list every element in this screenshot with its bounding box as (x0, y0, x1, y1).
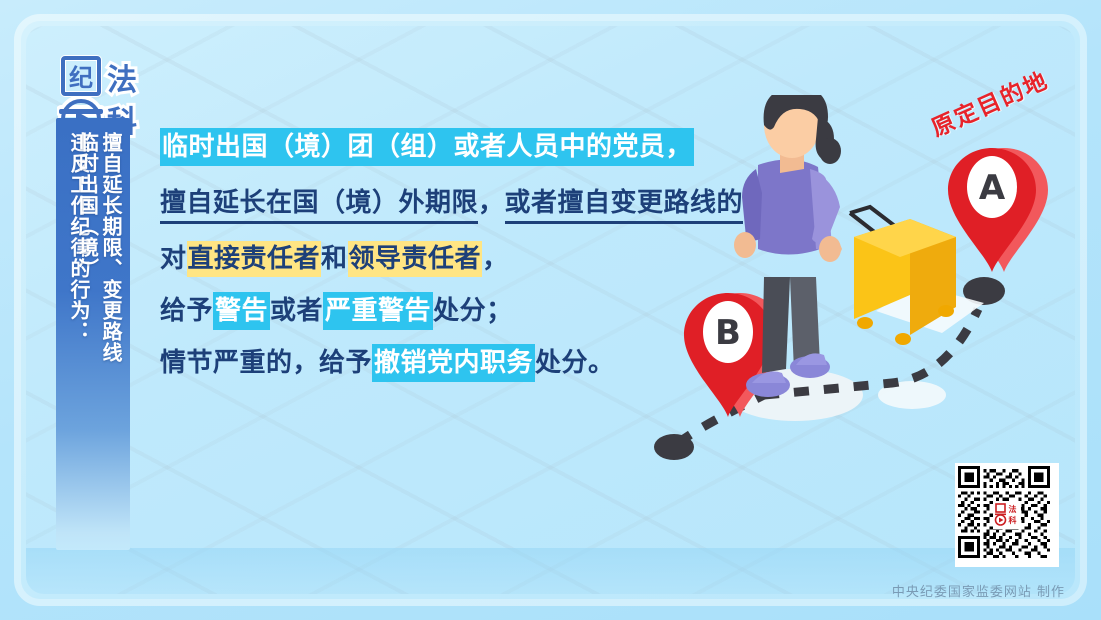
svg-text:纪: 纪 (69, 64, 93, 92)
body-line-3-seg-4: 领导责任者 (348, 241, 483, 277)
svg-text:A: A (979, 168, 1006, 208)
body-line-3-seg-5: ， (482, 244, 509, 274)
vertical-banner: 违反工作纪律的行为： 擅自延长期限、变更路线 临时出国（境） (56, 118, 130, 550)
qr-center-logo-icon: 法 科 (993, 501, 1021, 529)
body-line-4-seg-2: 警告 (213, 292, 270, 330)
svg-text:法: 法 (107, 63, 137, 98)
body-line-4-seg-3: 或者 (270, 296, 323, 326)
body-line-1-seg-1: 临时出国（境）团（组）或者人员中的党员， (160, 128, 694, 166)
travel-illustration: A B (640, 95, 1060, 465)
qr-code[interactable]: 法 科 (955, 463, 1059, 567)
body-line-5-seg-2: 撤销党内职务 (372, 344, 535, 382)
body-line-2-seg-2: ， (478, 188, 505, 218)
svg-text:法: 法 (1009, 504, 1017, 514)
poster-canvas: 纪 法 科 违反工作纪律的行为： 擅自延长期限、变更路线 临时出国（境） 临时出… (0, 0, 1101, 620)
body-line-4-seg-5: 处分； (433, 296, 513, 326)
body-line-4-seg-1: 给予 (160, 296, 213, 326)
body-line-5-seg-3: 处分。 (535, 348, 615, 378)
credit-text: 中央纪委国家监委网站 制作 (892, 581, 1065, 600)
body-line-2-seg-1: 擅自延长在国（境）外期限 (160, 188, 478, 224)
body-line-3-seg-3: 和 (321, 244, 348, 274)
banner-right-column: 擅自延长期限、变更路线 临时出国（境） (75, 132, 122, 363)
svg-text:B: B (715, 313, 741, 353)
svg-text:科: 科 (1009, 515, 1017, 525)
body-line-3-seg-1: 对 (160, 244, 187, 274)
body-line-3-seg-2: 直接责任者 (187, 241, 322, 277)
map-pin-a: A (948, 148, 1048, 272)
body-line-5-seg-1: 情节严重的，给予 (160, 348, 372, 378)
body-line-4-seg-4: 严重警告 (323, 292, 433, 330)
